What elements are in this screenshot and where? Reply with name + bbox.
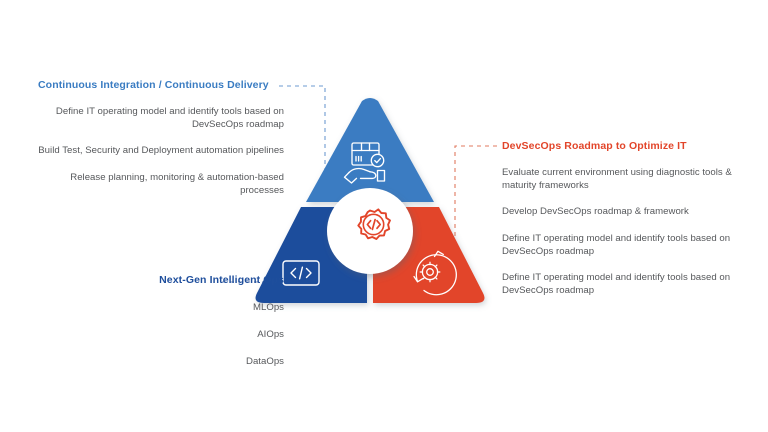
ops-item-1: MLOps: [38, 301, 284, 314]
cicd-heading: Continuous Integration / Continuous Deli…: [38, 78, 284, 92]
cicd-item-1: Define IT operating model and identify t…: [38, 105, 284, 131]
cicd-item-2: Build Test, Security and Deployment auto…: [38, 144, 284, 157]
gear-code-icon: [358, 209, 390, 239]
roadmap-connector: [455, 146, 497, 256]
center-circle[interactable]: [327, 188, 413, 274]
ops-item-2: AIOps: [38, 328, 284, 341]
block-continuous-integration-delivery: Continuous Integration / Continuous Deli…: [38, 78, 284, 197]
roadmap-item-4: Define IT operating model and identify t…: [502, 271, 742, 297]
roadmap-heading: DevSecOps Roadmap to Optimize IT: [502, 139, 742, 153]
block-devsecops-roadmap: DevSecOps Roadmap to Optimize IT Evaluat…: [502, 139, 742, 297]
ops-heading: Next-Gen Intelligent Ops: [38, 273, 284, 287]
roadmap-item-3: Define IT operating model and identify t…: [502, 232, 742, 258]
cicd-connector: [279, 86, 325, 196]
ops-item-3: DataOps: [38, 355, 284, 368]
infographic-canvas: Continuous Integration / Continuous Deli…: [0, 0, 768, 432]
triangle-segment-right[interactable]: [373, 207, 484, 303]
package-delivery-hand-icon: [345, 143, 385, 183]
code-brackets-icon: [283, 261, 319, 285]
triangle-segment-top[interactable]: [306, 98, 434, 202]
cicd-item-3: Release planning, monitoring & automatio…: [38, 171, 284, 197]
roadmap-item-1: Evaluate current environment using diagn…: [502, 166, 742, 192]
block-next-gen-intelligent-ops: Next-Gen Intelligent Ops MLOps AIOps Dat…: [38, 273, 284, 383]
gear-refresh-icon: [414, 251, 456, 294]
roadmap-item-2: Develop DevSecOps roadmap & framework: [502, 205, 742, 218]
